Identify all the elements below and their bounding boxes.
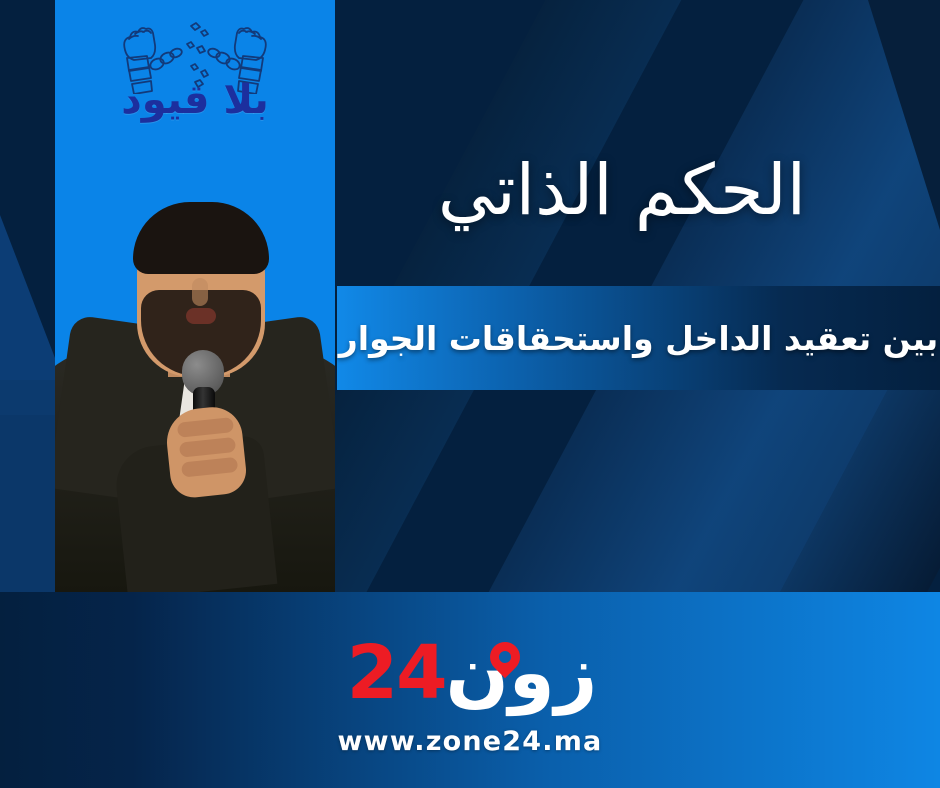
social-media-card: بلا قيود xyxy=(0,0,940,788)
brand-word: زون xyxy=(446,636,598,710)
brand-word-label: زون xyxy=(446,630,598,716)
photo-hand xyxy=(164,404,249,499)
zone24-logo: 24 زون xyxy=(347,624,594,710)
page-title: الحكم الذاتي xyxy=(342,150,902,231)
footer: 24 زون www.zone24.ma xyxy=(0,592,940,788)
brand-number: 24 xyxy=(347,636,446,710)
photo-mouth xyxy=(186,308,216,324)
subtitle-band: بين تعقيد الداخل واستحقاقات الجوار xyxy=(337,286,940,390)
guest-photo xyxy=(55,132,335,592)
photo-nose xyxy=(192,278,208,306)
left-blue-panel: بلا قيود xyxy=(55,0,335,592)
show-logo-text: بلا قيود xyxy=(55,80,335,120)
photo-hair xyxy=(133,202,269,274)
subtitle-label: بين تعقيد الداخل واستحقاقات الجوار xyxy=(339,319,938,358)
photo-finger xyxy=(177,417,234,438)
background-left-wedge-lower xyxy=(0,380,60,595)
photo-finger xyxy=(181,457,238,478)
website-url[interactable]: www.zone24.ma xyxy=(338,726,603,757)
photo-finger xyxy=(179,437,236,458)
